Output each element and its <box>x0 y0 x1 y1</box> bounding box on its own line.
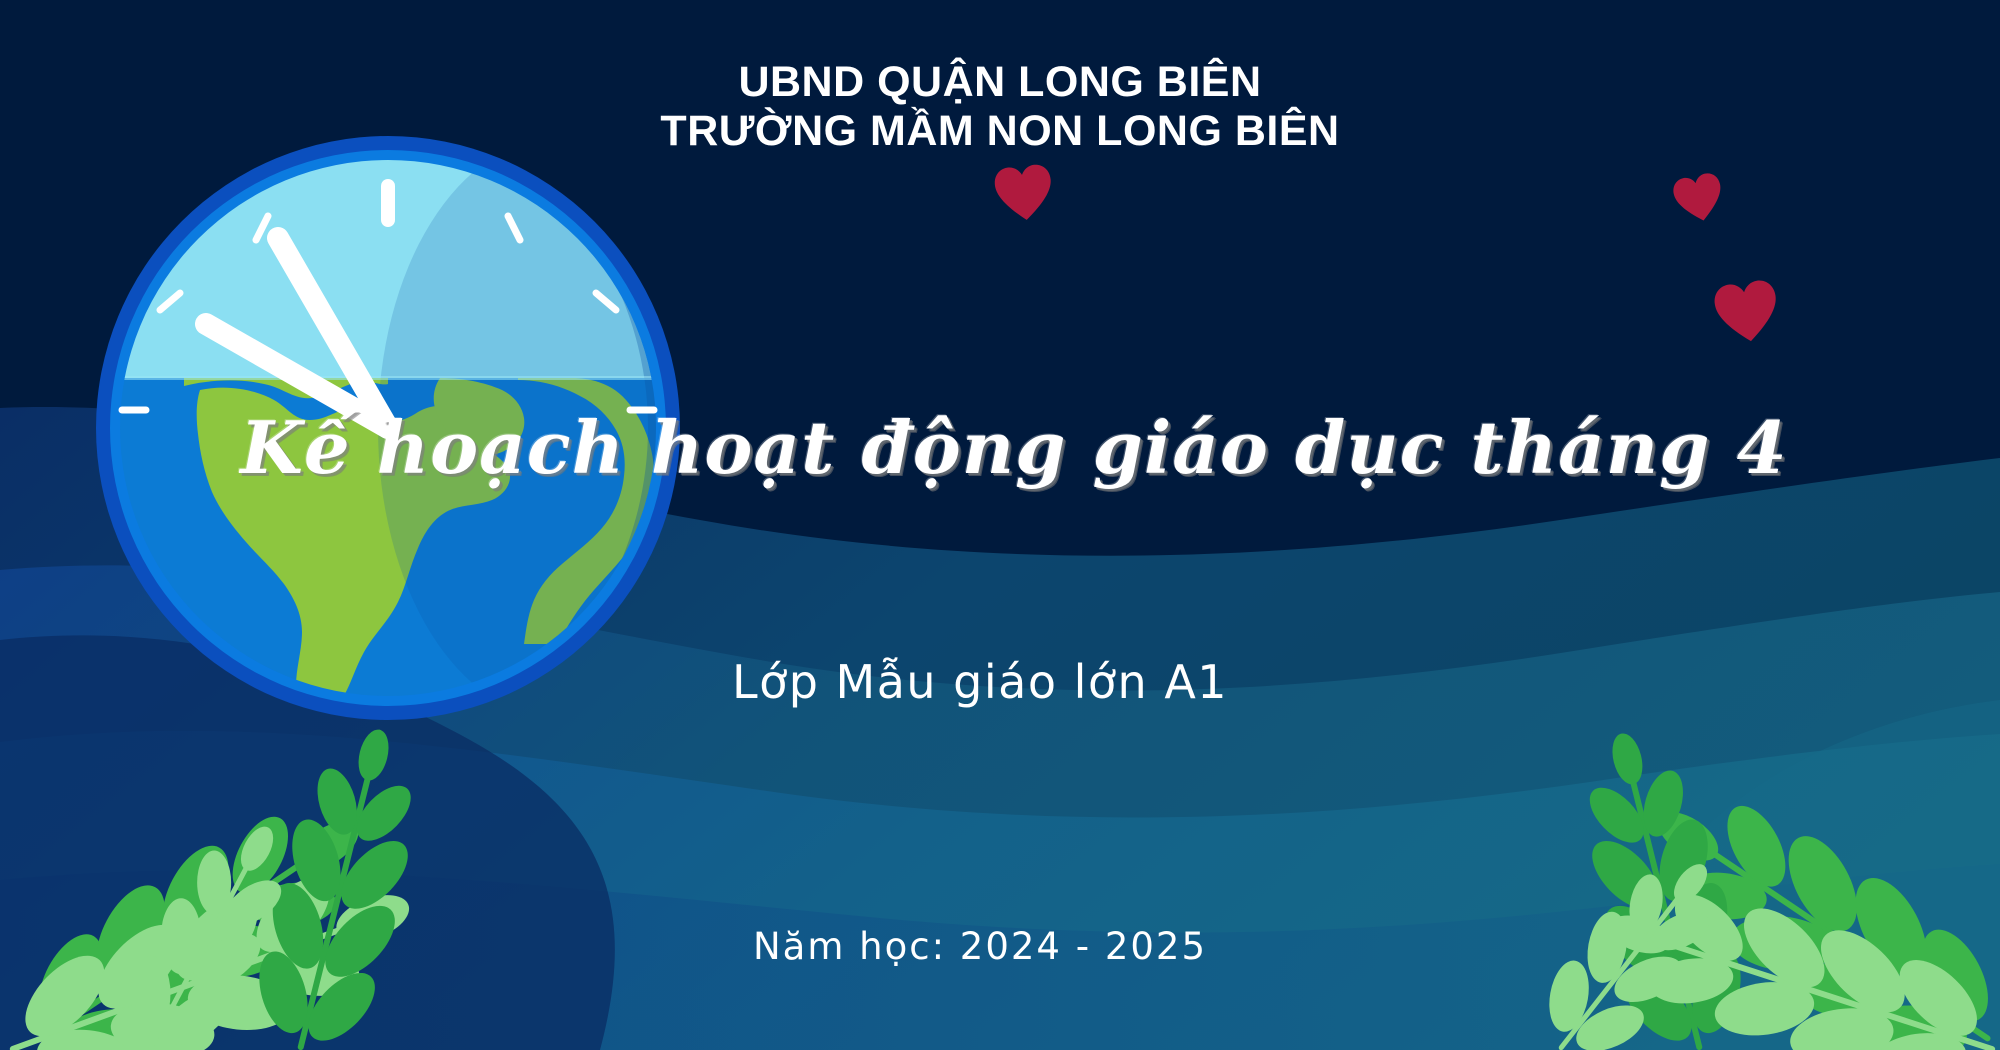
institution-header: UBND QUẬN LONG BIÊN TRƯỜNG MẦM NON LONG … <box>0 58 2000 156</box>
page-title: Kế hoạch hoạt động giáo dục tháng 4 <box>14 405 2000 490</box>
header-line-school: TRƯỜNG MẦM NON LONG BIÊN <box>0 107 2000 156</box>
heart-center-icon <box>989 159 1059 229</box>
heart-right-lower-icon <box>1707 273 1786 352</box>
heart-right-upper-icon <box>1667 167 1731 231</box>
class-subtitle: Lớp Mẫu giáo lớn A1 <box>0 655 1980 709</box>
header-line-authority: UBND QUẬN LONG BIÊN <box>0 58 2000 107</box>
slide-canvas: UBND QUẬN LONG BIÊN TRƯỜNG MẦM NON LONG … <box>0 0 2000 1050</box>
school-year-label: Năm học: 2024 - 2025 <box>0 925 1980 968</box>
